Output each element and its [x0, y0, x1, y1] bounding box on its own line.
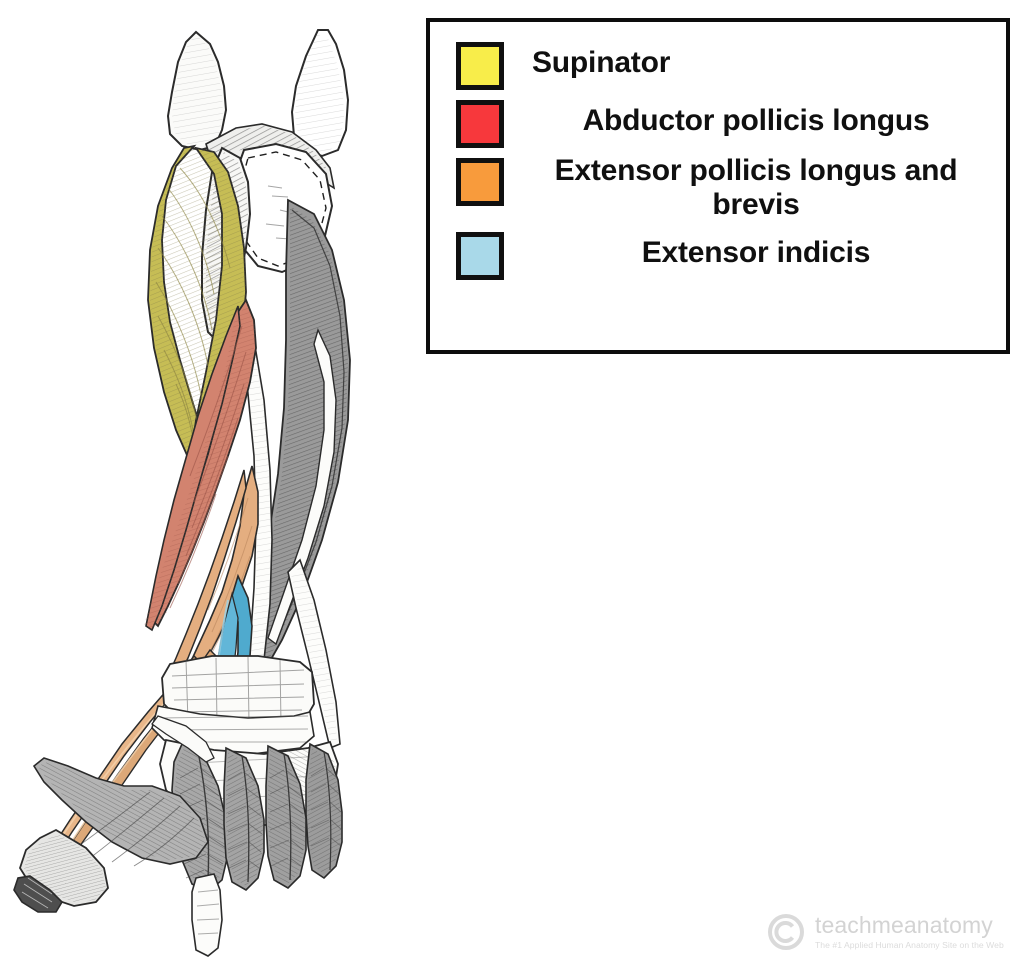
legend-item-supinator: Supinator: [456, 38, 992, 90]
legend-swatch-extensor-pollicis-longus-and-brevis: [456, 158, 504, 206]
legend-swatch-supinator: [456, 42, 504, 90]
phalanges-row: [192, 874, 222, 956]
watermark-text: teachmeanatomy The #1 Applied Human Anat…: [815, 914, 1004, 950]
legend-item-extensor-indicis: Extensor indicis: [456, 228, 992, 280]
anatomy-svg: [0, 0, 420, 962]
legend-item-abductor-pollicis-longus: Abductor pollicis longus: [456, 96, 992, 148]
watermark-tagline: The #1 Applied Human Anatomy Site on the…: [815, 941, 1004, 950]
watermark-brand: teachmeanatomy: [815, 914, 1004, 937]
copyright-icon: [766, 912, 806, 952]
legend-label-abductor-pollicis-longus: Abductor pollicis longus: [526, 96, 992, 138]
legend-label-extensor-indicis: Extensor indicis: [526, 228, 992, 270]
legend-swatch-extensor-indicis: [456, 232, 504, 280]
legend-item-extensor-pollicis-longus-and-brevis: Extensor pollicis longus and brevis: [456, 154, 992, 222]
forearm-anatomy-illustration: [0, 0, 420, 962]
legend-panel: Supinator Abductor pollicis longus Exten…: [426, 18, 1010, 354]
legend-label-supinator: Supinator: [526, 38, 992, 80]
legend-swatch-abductor-pollicis-longus: [456, 100, 504, 148]
watermark: teachmeanatomy The #1 Applied Human Anat…: [766, 908, 1016, 956]
legend-label-extensor-pollicis-longus-and-brevis: Extensor pollicis longus and brevis: [526, 154, 992, 222]
